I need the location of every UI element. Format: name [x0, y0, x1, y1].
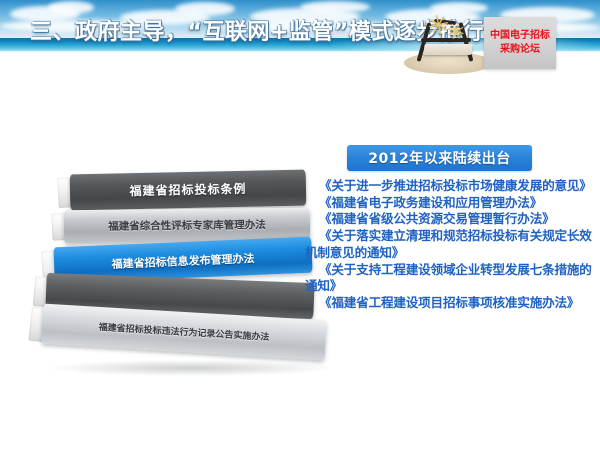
cloud-shape	[300, 1, 370, 13]
document-list: 《关于进一步推进招标投标市场健康发展的意见》 《福建省电子政务建设和应用管理办法…	[305, 178, 597, 312]
document-list-item: 《福建省工程建设项目招标事项核准实施办法》	[305, 295, 597, 312]
book-label: 福建省综合性评标专家库管理办法	[64, 217, 310, 235]
document-list-item: 《关于支持工程建设领域企业转型发展七条措施的通知》	[305, 262, 597, 295]
document-list-item: 《福建省省级公共资源交易管理暂行办法》	[305, 211, 597, 228]
book-stack-graphic: 福建省招标投标条例 福建省综合性评标专家库管理办法 福建省招标信息发布管理办法 …	[42, 172, 332, 390]
cloud-shape	[48, 1, 94, 14]
document-list-item: 《福建省电子政务建设和应用管理办法》	[305, 195, 597, 212]
chair-seat-shape	[423, 44, 472, 55]
beach-chair-icon: ✳ ✳	[400, 14, 495, 76]
forum-logo-line-1: 中国电子招标	[490, 29, 550, 44]
year-banner-label: 2012年以来陆续出台	[368, 148, 510, 168]
document-list-item: 《关于落实建立清理和规范招标投标有关规定长效机制意见的通知》	[305, 228, 597, 261]
year-banner: 2012年以来陆续出台	[347, 145, 532, 171]
forum-logo: 中国电子招标 采购论坛	[484, 17, 556, 69]
stack-drop-shadow	[50, 360, 332, 376]
presentation-slide: 三、政府主导，“互联网+监管”模式逐步推行 ✳ ✳ 中国电子招标 采购论坛 福建…	[0, 0, 600, 450]
forum-logo-line-2: 采购论坛	[500, 43, 540, 58]
book-item: 福建省招标投标条例	[70, 170, 307, 211]
document-list-item: 《关于进一步推进招标投标市场健康发展的意见》	[305, 178, 597, 195]
